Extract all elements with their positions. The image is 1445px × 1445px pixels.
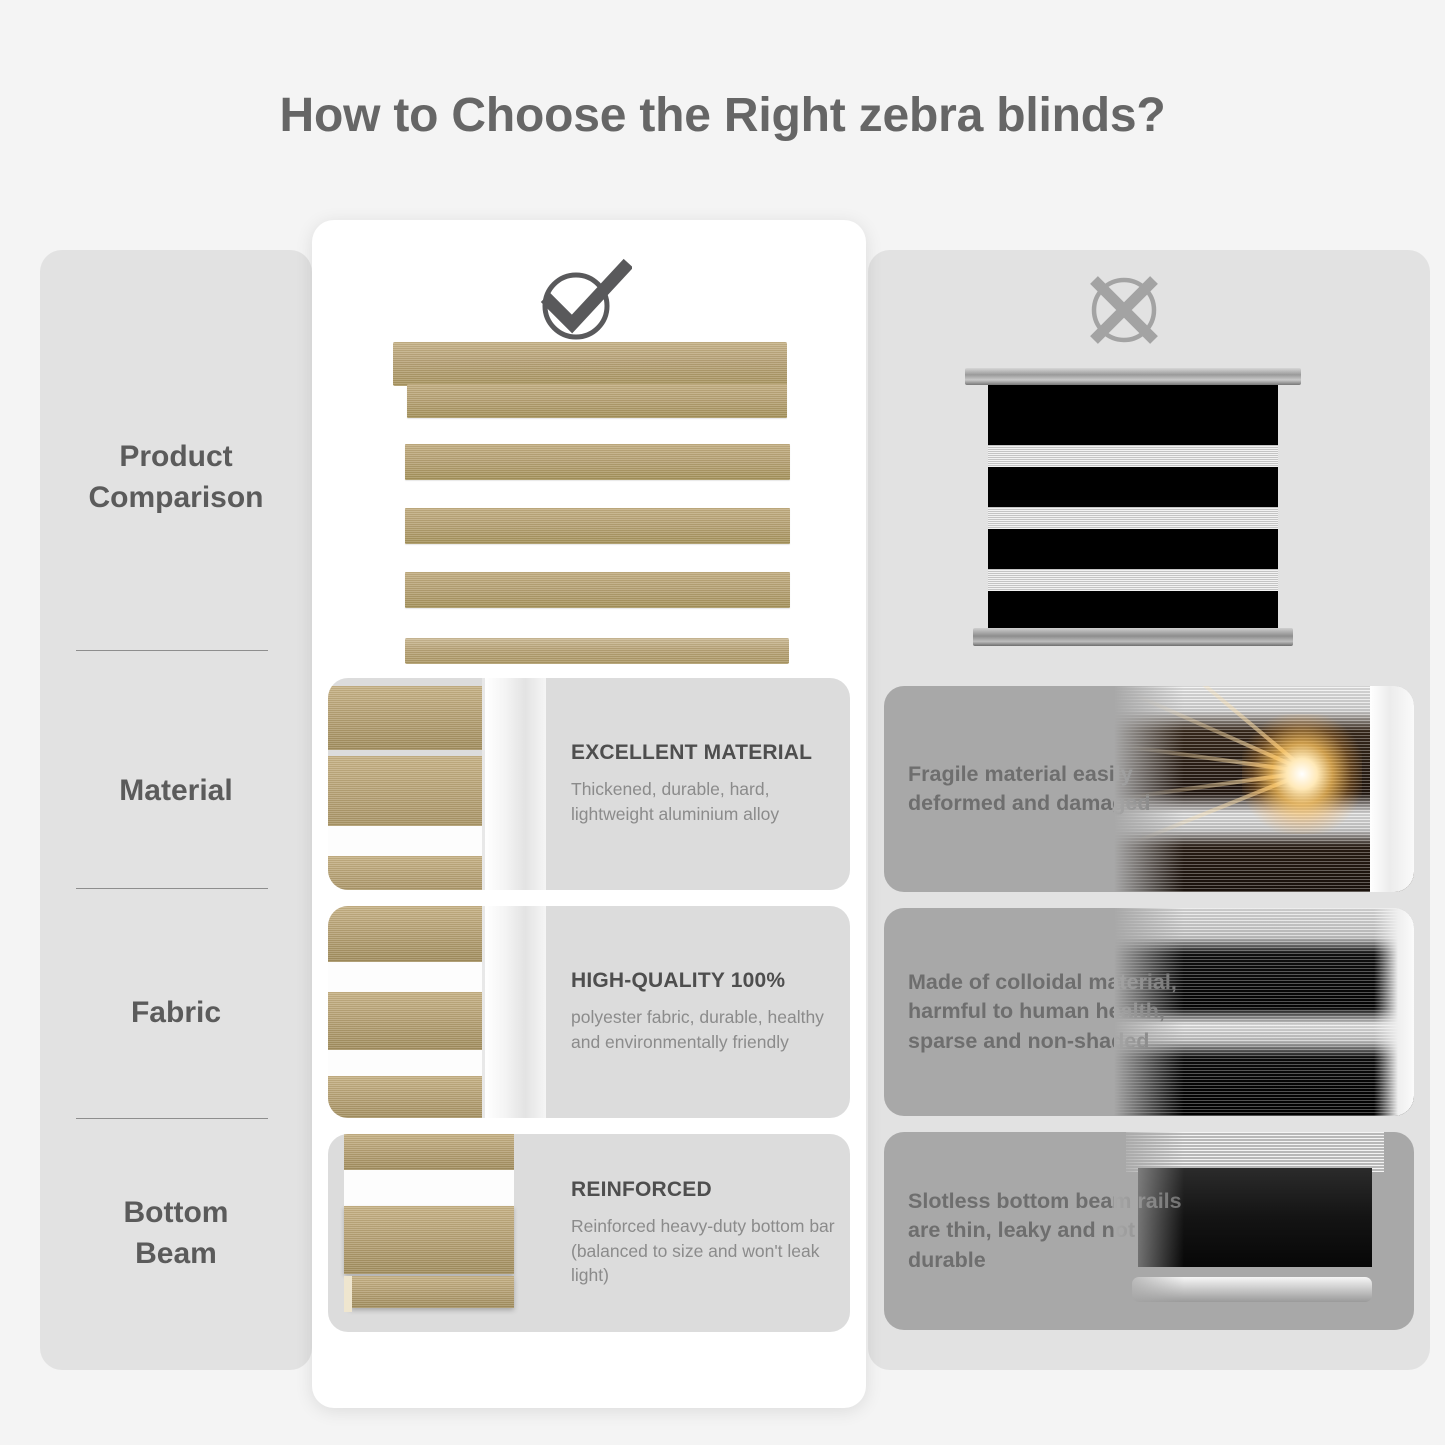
cross-circle-icon bbox=[1082, 270, 1166, 350]
row-label-line-1: Product bbox=[40, 436, 312, 477]
good-card-body: Thickened, durable, hard, lightweight al… bbox=[571, 777, 838, 827]
blind-bottom-bar bbox=[973, 628, 1293, 646]
good-card-text: HIGH-QUALITY 100% polyester fabric, dura… bbox=[571, 906, 838, 1118]
row-label-material: Material bbox=[40, 770, 312, 811]
row-divider bbox=[76, 1118, 268, 1119]
bad-card-fabric: Made of colloidal material, harmful to h… bbox=[884, 908, 1414, 1116]
check-circle-icon bbox=[536, 258, 632, 344]
blind-sheer-stripe bbox=[988, 507, 1278, 529]
hero-good-blind-image bbox=[385, 342, 795, 666]
good-card-heading: EXCELLENT MATERIAL bbox=[571, 741, 838, 765]
blind-slat bbox=[405, 508, 790, 544]
blind-bottom-bar bbox=[405, 638, 789, 664]
bad-card-material: Fragile material easily deformed and dam… bbox=[884, 686, 1414, 892]
blind-headrail bbox=[393, 342, 787, 386]
row-divider bbox=[76, 650, 268, 651]
page-title: How to Choose the Right zebra blinds? bbox=[0, 88, 1445, 143]
row-label-product-comparison: Product Comparison bbox=[40, 436, 312, 519]
row-label-line-2: Comparison bbox=[40, 477, 312, 518]
hero-bad-blind-image bbox=[965, 368, 1301, 652]
blind-body bbox=[988, 385, 1278, 628]
bad-card-image bbox=[1114, 1132, 1414, 1330]
good-card-heading: HIGH-QUALITY 100% bbox=[571, 969, 838, 993]
comparison-infographic: How to Choose the Right zebra blinds? Pr… bbox=[0, 0, 1445, 1445]
good-card-heading: REINFORCED bbox=[571, 1178, 838, 1202]
row-label-line-2: Beam bbox=[40, 1233, 312, 1274]
good-card-body: polyester fabric, durable, healthy and e… bbox=[571, 1005, 838, 1055]
blind-slat bbox=[405, 444, 790, 480]
row-divider bbox=[76, 888, 268, 889]
bad-card-bottom-beam: Slotless bottom beam rails are thin, lea… bbox=[884, 1132, 1414, 1330]
row-label-line-1: Bottom bbox=[40, 1192, 312, 1233]
blind-slat bbox=[407, 384, 787, 418]
good-card-body: Reinforced heavy-duty bottom bar (balanc… bbox=[571, 1214, 838, 1289]
blind-slat bbox=[405, 572, 790, 608]
good-card-text: EXCELLENT MATERIAL Thickened, durable, h… bbox=[571, 678, 838, 890]
good-card-fabric: HIGH-QUALITY 100% polyester fabric, dura… bbox=[328, 906, 850, 1118]
blind-headrail bbox=[965, 368, 1301, 385]
row-label-bottom-beam: Bottom Beam bbox=[40, 1192, 312, 1275]
good-card-image bbox=[328, 906, 546, 1118]
bad-card-image bbox=[1114, 908, 1414, 1116]
bad-card-image bbox=[1114, 686, 1414, 892]
blind-sheer-stripe bbox=[988, 445, 1278, 467]
good-card-material: EXCELLENT MATERIAL Thickened, durable, h… bbox=[328, 678, 850, 890]
good-card-image bbox=[328, 678, 546, 890]
good-card-text: REINFORCED Reinforced heavy-duty bottom … bbox=[571, 1134, 838, 1332]
good-card-bottom-beam: REINFORCED Reinforced heavy-duty bottom … bbox=[328, 1134, 850, 1332]
good-card-image bbox=[328, 1134, 546, 1332]
blind-sheer-stripe bbox=[988, 569, 1278, 591]
row-label-fabric: Fabric bbox=[40, 992, 312, 1033]
